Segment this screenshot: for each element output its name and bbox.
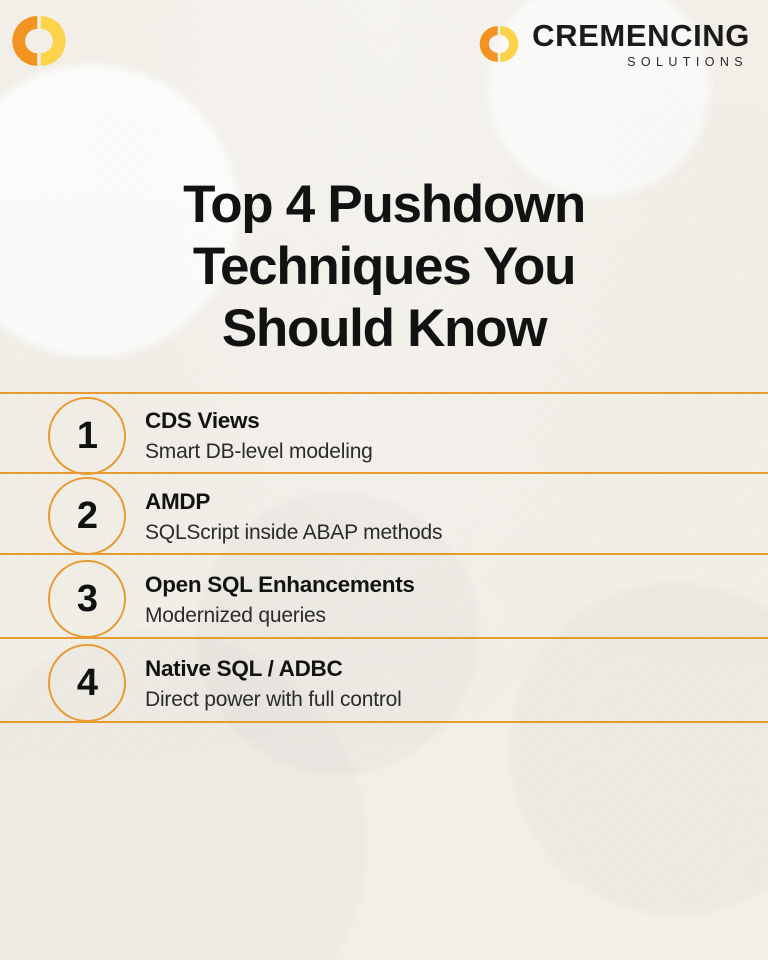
page-title-line-2: Techniques You: [76, 236, 692, 298]
page-title-line-1: Top 4 Pushdown: [76, 174, 692, 236]
list-item-title: Open SQL Enhancements: [145, 572, 748, 598]
list-item-content: Native SQL / ADBC Direct power with full…: [145, 656, 748, 712]
list-item-description: Smart DB-level modeling: [145, 439, 748, 464]
poster-canvas: CREMENCING SOLUTIONS Top 4 Pushdown Tech…: [0, 0, 768, 960]
list-item-title: CDS Views: [145, 408, 748, 434]
list-item-number: 4: [77, 664, 97, 702]
brand-logo: CREMENCING SOLUTIONS: [478, 20, 750, 69]
list-item-title: Native SQL / ADBC: [145, 656, 748, 682]
list-item-number: 2: [77, 497, 97, 535]
cs-monogram-icon: [478, 23, 520, 65]
list-item[interactable]: 2 AMDP SQLScript inside ABAP methods: [0, 477, 768, 557]
cs-monogram-icon: [10, 12, 68, 70]
brand-subtitle: SOLUTIONS: [627, 56, 748, 69]
list-item-number-badge: 2: [48, 477, 126, 555]
list-item[interactable]: 3 Open SQL Enhancements Modernized queri…: [0, 558, 768, 638]
page-title: Top 4 Pushdown Techniques You Should Kno…: [0, 174, 768, 360]
list-item-description: Direct power with full control: [145, 687, 748, 712]
brand-name: CREMENCING: [532, 20, 750, 51]
list-item-description: Modernized queries: [145, 603, 748, 628]
page-title-line-3: Should Know: [76, 298, 692, 360]
list-item-number-badge: 3: [48, 560, 126, 638]
list-item-number: 3: [77, 580, 97, 618]
list-item-description: SQLScript inside ABAP methods: [145, 520, 748, 545]
list-item-number-badge: 4: [48, 644, 126, 722]
list-item-content: CDS Views Smart DB-level modeling: [145, 408, 748, 464]
list-item[interactable]: 1 CDS Views Smart DB-level modeling: [0, 396, 768, 476]
list-item-content: Open SQL Enhancements Modernized queries: [145, 572, 748, 628]
corner-logo: [10, 12, 68, 70]
brand-text: CREMENCING SOLUTIONS: [532, 20, 750, 69]
list-divider: [0, 392, 768, 394]
list-item-number: 1: [77, 417, 97, 455]
list-item-title: AMDP: [145, 489, 748, 515]
list-item-content: AMDP SQLScript inside ABAP methods: [145, 489, 748, 545]
list-item-number-badge: 1: [48, 397, 126, 475]
list-item[interactable]: 4 Native SQL / ADBC Direct power with fu…: [0, 642, 768, 722]
